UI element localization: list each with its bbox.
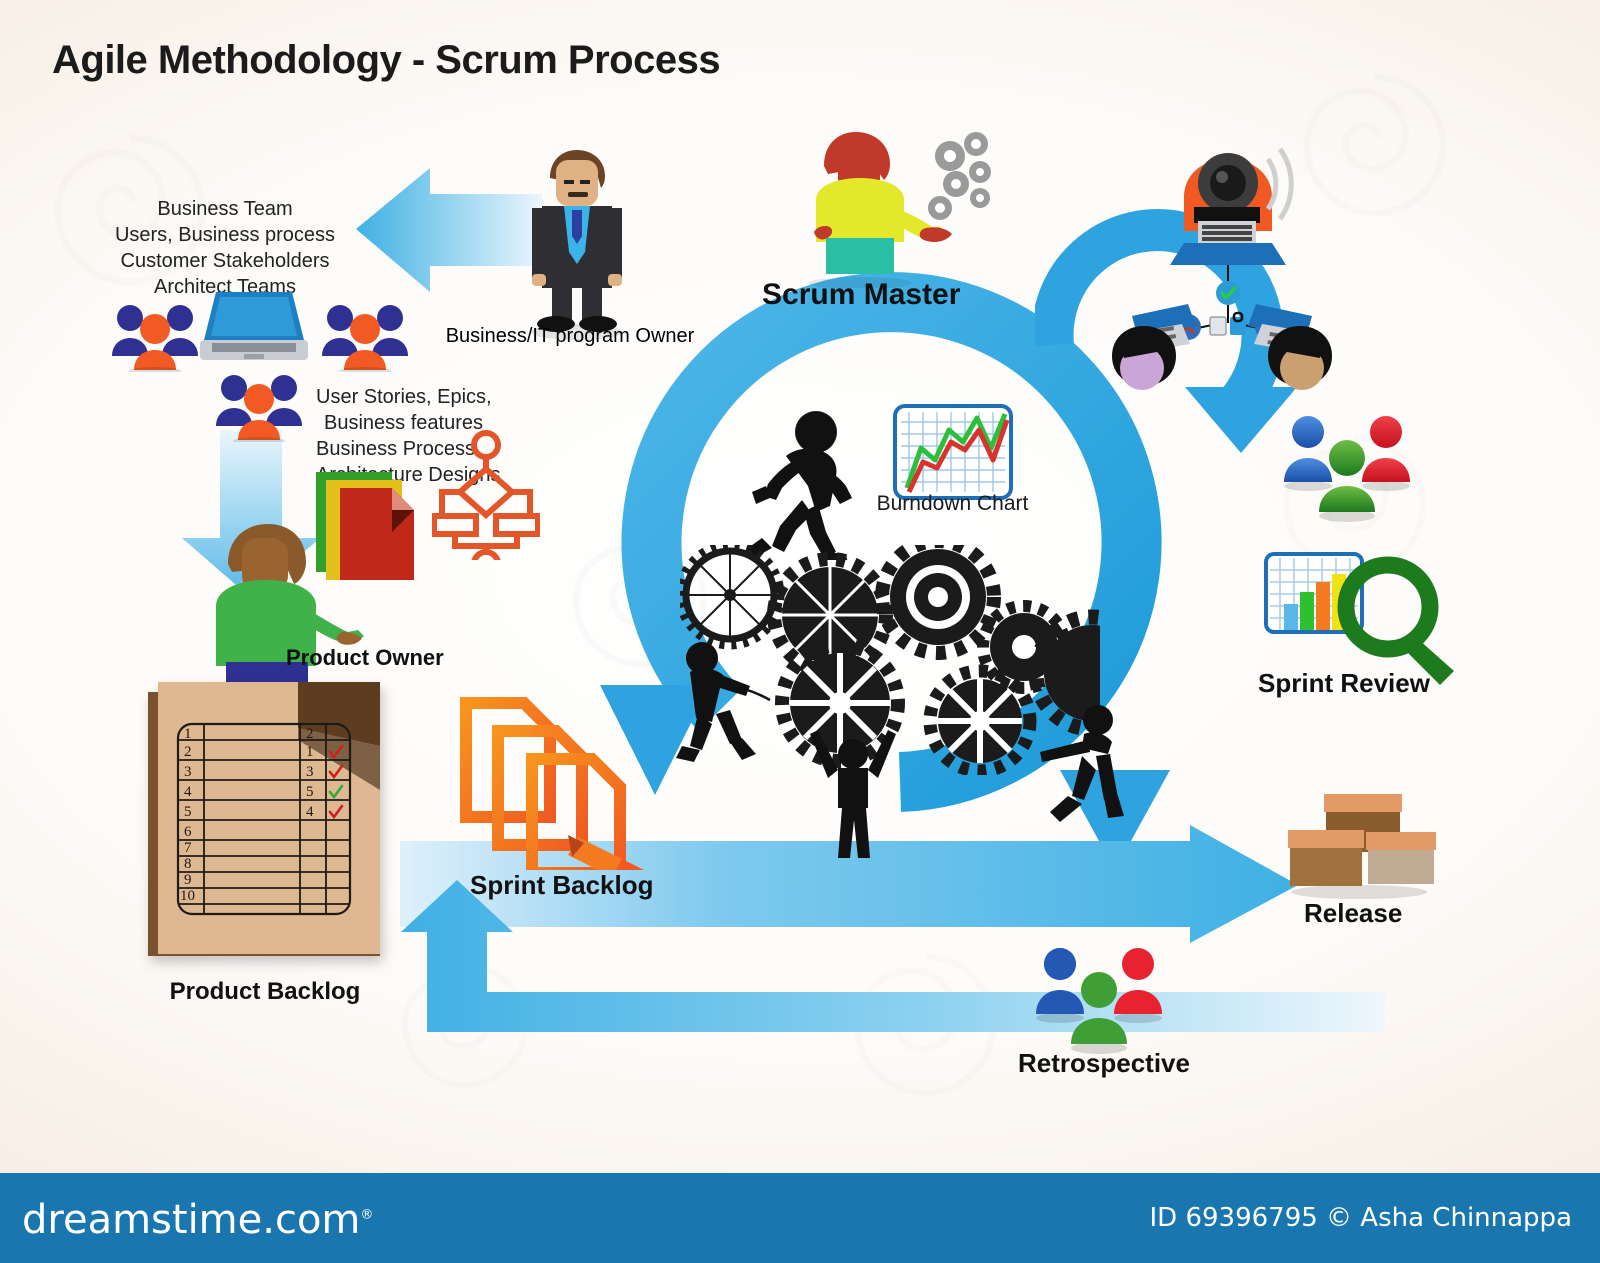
remote-participant-icon [1104,300,1214,395]
sprint-review-label: Sprint Review [1258,668,1430,699]
stakeholders-line-1: Business Team [80,196,370,222]
scrum-master-figure [790,128,1000,293]
infographic-canvas: Agile Methodology - Scrum Process [0,0,1600,1263]
artifacts-line-1: User Stories, Epics, [316,384,566,410]
product-owner-label: Product Owner [286,645,444,671]
people-group-icon [212,370,308,442]
scrum-master-label: Scrum Master [762,278,960,312]
release-label: Release [1304,898,1402,929]
program-owner-label: Business/IT program Owner [440,325,700,348]
running-person-icon [740,410,870,565]
registered-mark: ® [360,1208,373,1223]
sprint-backlog-documents-icon [458,685,670,875]
burndown-chart [893,404,1013,505]
worker-lifting-gear-icon [808,720,898,865]
svg-text:1: 1 [184,726,192,742]
page-title: Agile Methodology - Scrum Process [52,38,720,83]
stakeholders-text: Business Team Users, Business process Cu… [80,196,370,300]
people-group-icon [318,300,414,372]
release-boxes-icon [1274,780,1444,905]
svg-text:10: 10 [180,888,195,904]
footer-bar: dreamstime.com® ID 69396795 © Asha Chinn… [0,1173,1600,1263]
flowchart-icon [432,430,540,565]
svg-text:6: 6 [184,824,192,840]
retrospective-label: Retrospective [1018,1048,1190,1079]
svg-text:3: 3 [306,764,314,780]
worker-pulling-rope-icon [672,640,792,775]
business-it-program-owner-figure [512,140,642,345]
svg-text:8: 8 [184,856,192,872]
burndown-chart-label: Burndown Chart [860,492,1045,516]
svg-text:2: 2 [184,744,192,760]
image-credit: ID 69396795 © Asha Chinnappa [1149,1203,1572,1233]
sprint-backlog-label: Sprint Backlog [470,870,653,901]
svg-text:7: 7 [184,840,192,856]
remote-participant-icon [1230,300,1340,395]
stakeholders-line-3: Customer Stakeholders [80,248,370,274]
product-backlog-board: 123 456 789 10 213 54 [148,682,392,969]
sprint-review-people-icon [1278,412,1428,527]
worker-pushing-gear-icon [1020,700,1130,835]
product-backlog-label: Product Backlog [140,978,390,1006]
svg-text:9: 9 [184,872,192,888]
svg-text:1: 1 [306,744,314,760]
stakeholders-line-2: Users, Business process [80,222,370,248]
svg-text:2: 2 [306,726,314,742]
svg-text:5: 5 [184,804,192,820]
retrospective-return-arrow [395,880,1395,1055]
svg-text:4: 4 [184,784,192,800]
dreamstime-logo[interactable]: dreamstime.com® [22,1197,373,1243]
retrospective-people-icon [1030,944,1180,1059]
svg-text:3: 3 [184,764,192,780]
svg-text:4: 4 [306,804,314,820]
svg-text:5: 5 [306,784,314,800]
people-group-icon [108,300,204,372]
laptop-icon [200,288,308,371]
dreamstime-logo-text: dreamstime.com [22,1197,360,1243]
